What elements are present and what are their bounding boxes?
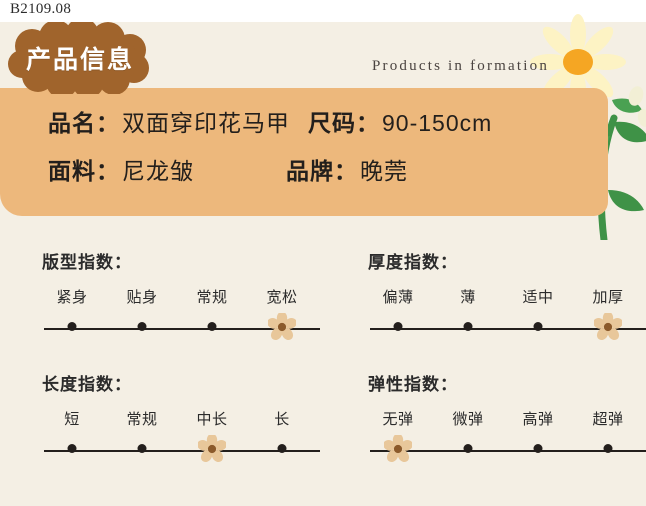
index-dot[interactable] [464,444,473,453]
index-selected-flower-icon[interactable] [594,313,622,341]
english-subtitle: Products in formation [372,58,549,75]
index-option-label[interactable]: 加厚 [592,286,623,307]
product-code: B2109.08 [10,1,71,18]
index-scale: 无弹微弹高弹超弹 [364,408,646,478]
index-scale: 紧身贴身常规宽松 [38,286,326,356]
index-labels: 偏薄薄适中加厚 [364,286,646,312]
product-info-graphic: B2109.08 [0,0,646,506]
index-dot[interactable] [464,322,473,331]
index-group-elasticity: 弹性指数：无弹微弹高弹超弹 [364,370,646,492]
index-option-label[interactable]: 超弹 [592,408,623,429]
field-label: 尺码： [308,104,380,138]
index-groups: 版型指数：紧身贴身常规宽松厚度指数：偏薄薄适中加厚长度指数：短常规中长长弹性指数… [0,248,646,492]
index-option-label[interactable]: 紧身 [56,286,87,307]
field-label: 品牌： [286,152,358,186]
index-option-label[interactable]: 微弹 [452,408,483,429]
index-dot[interactable] [68,444,77,453]
index-scale: 短常规中长长 [38,408,326,478]
field-value: 尼龙皱 [122,152,194,186]
index-dot[interactable] [604,444,613,453]
index-dot[interactable] [394,322,403,331]
index-option-label[interactable]: 常规 [196,286,227,307]
card-row: 面料： 尼龙皱 品牌： 晚莞 [48,152,588,200]
index-group-length: 长度指数：短常规中长长 [38,370,338,492]
index-title: 长度指数： [42,370,338,395]
field-product-name: 品名： 双面穿印花马甲 [48,104,290,138]
field-fabric: 面料： 尼龙皱 [48,152,194,186]
index-option-label[interactable]: 贴身 [126,286,157,307]
index-option-label[interactable]: 无弹 [382,408,413,429]
index-option-label[interactable]: 长 [274,408,290,429]
top-white-strip [0,0,646,22]
index-dot[interactable] [68,322,77,331]
index-option-label[interactable]: 偏薄 [382,286,413,307]
index-dot[interactable] [138,322,147,331]
field-value: 晚莞 [360,152,408,186]
section-badge: 产品信息 [6,22,154,94]
index-title: 弹性指数： [368,370,646,395]
card-rows: 品名： 双面穿印花马甲 尺码： 90-150cm 面料： 尼龙皱 品牌： 晚莞 [48,104,588,200]
product-info-card: 品名： 双面穿印花马甲 尺码： 90-150cm 面料： 尼龙皱 品牌： 晚莞 [0,88,608,216]
index-dot[interactable] [278,444,287,453]
index-scale: 偏薄薄适中加厚 [364,286,646,356]
index-selected-flower-icon[interactable] [384,435,412,463]
index-labels: 短常规中长长 [38,408,326,434]
index-group-thickness: 厚度指数：偏薄薄适中加厚 [364,248,646,370]
index-option-label[interactable]: 短 [64,408,80,429]
field-brand: 品牌： 晚莞 [286,152,408,186]
field-value: 双面穿印花马甲 [122,104,290,138]
index-option-label[interactable]: 中长 [196,408,227,429]
index-dot[interactable] [534,322,543,331]
index-dot[interactable] [138,444,147,453]
card-row: 品名： 双面穿印花马甲 尺码： 90-150cm [48,104,588,152]
index-dot[interactable] [534,444,543,453]
index-labels: 无弹微弹高弹超弹 [364,408,646,434]
index-option-label[interactable]: 宽松 [266,286,297,307]
field-value: 90-150cm [382,110,492,137]
index-selected-flower-icon[interactable] [198,435,226,463]
index-title: 厚度指数： [368,248,646,273]
index-grid: 版型指数：紧身贴身常规宽松厚度指数：偏薄薄适中加厚长度指数：短常规中长长弹性指数… [0,248,646,492]
field-label: 面料： [48,152,120,186]
index-option-label[interactable]: 高弹 [522,408,553,429]
index-option-label[interactable]: 适中 [522,286,553,307]
index-title: 版型指数： [42,248,338,273]
index-dot[interactable] [208,322,217,331]
index-labels: 紧身贴身常规宽松 [38,286,326,312]
index-option-label[interactable]: 薄 [460,286,476,307]
index-option-label[interactable]: 常规 [126,408,157,429]
index-group-fit: 版型指数：紧身贴身常规宽松 [38,248,338,370]
index-selected-flower-icon[interactable] [268,313,296,341]
field-size: 尺码： 90-150cm [308,104,492,138]
field-label: 品名： [48,104,120,138]
badge-label: 产品信息 [6,22,154,94]
